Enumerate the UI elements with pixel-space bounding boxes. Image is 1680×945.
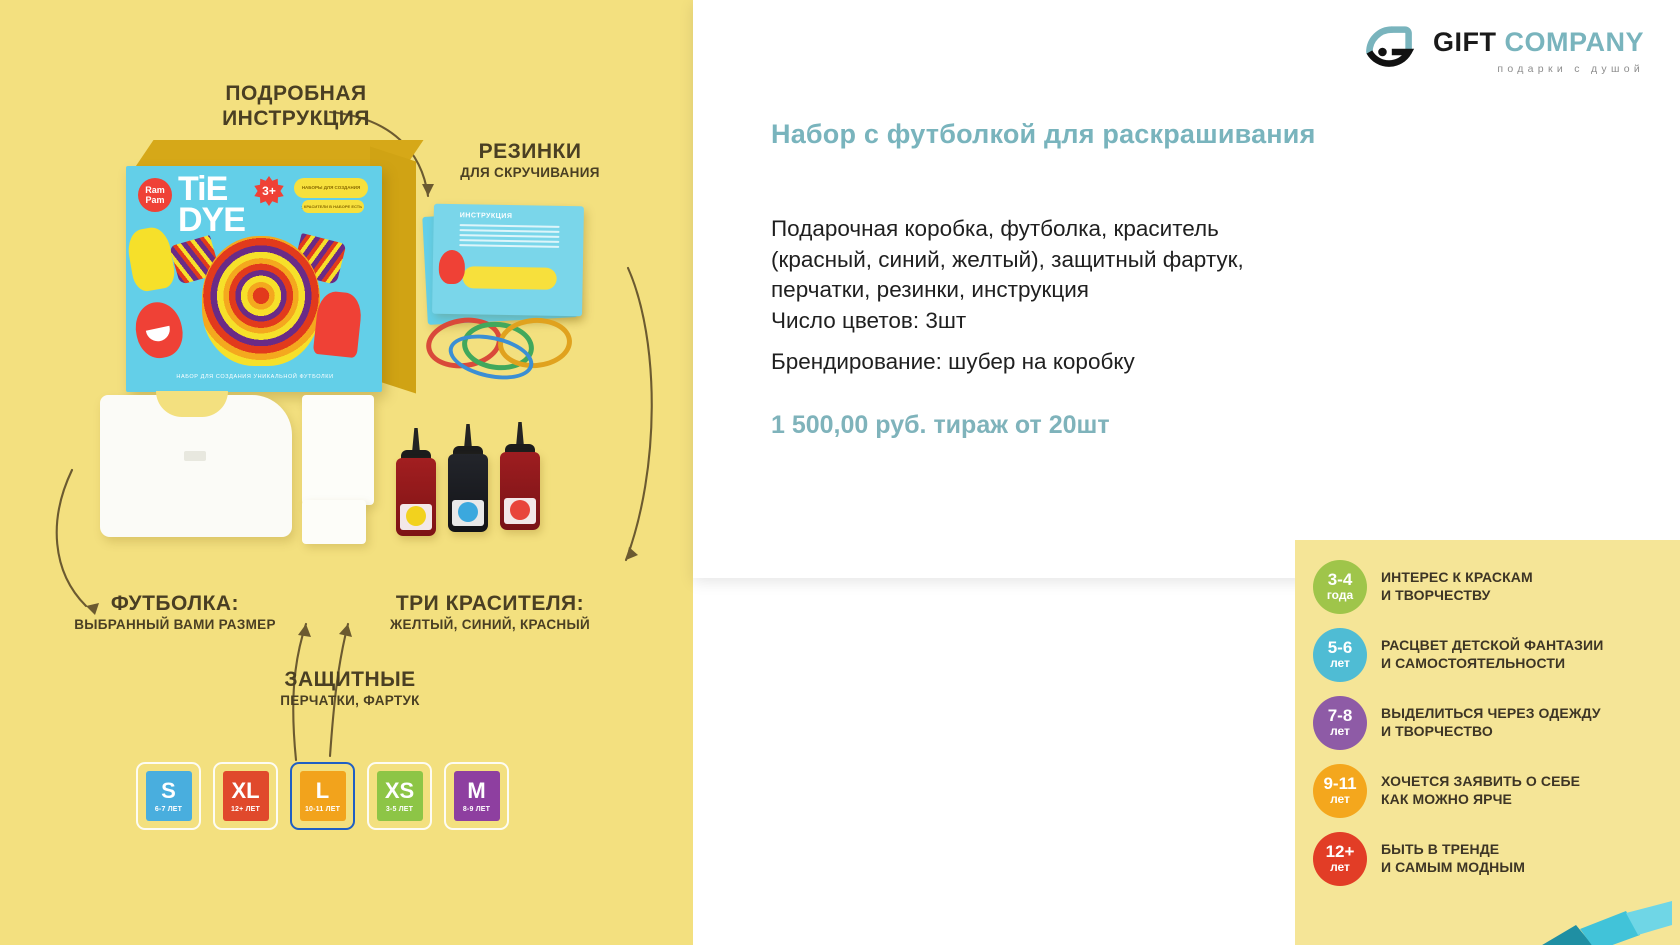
tie-dye-spiral bbox=[202, 236, 320, 366]
dye-bottle-yellow bbox=[500, 418, 540, 530]
protective-gloves bbox=[302, 500, 366, 544]
description-line-3: перчатки, резинки, инструкция bbox=[771, 275, 1471, 306]
logo-tagline: подарки с душой bbox=[1433, 63, 1644, 75]
age-row: 3-4годаИНТЕРЕС К КРАСКАМИ ТВОРЧЕСТВУ bbox=[1313, 560, 1533, 614]
age-badge-number: 9-11 bbox=[1323, 775, 1356, 792]
label-text-line2: ЖЕЛТЫЙ, СИНИЙ, КРАСНЫЙ bbox=[370, 617, 610, 633]
bottle-cap bbox=[409, 428, 423, 452]
age-row: 5-6летРАСЦВЕТ ДЕТСКОЙ ФАНТАЗИИИ САМОСТОЯ… bbox=[1313, 628, 1603, 682]
label-text-line2: ИНСТРУКЦИЯ bbox=[196, 107, 396, 132]
size-chip-label: S bbox=[161, 780, 176, 802]
age-description: ИНТЕРЕС К КРАСКАМИ ТВОРЧЕСТВУ bbox=[1381, 569, 1533, 605]
age-description: ВЫДЕЛИТЬСЯ ЧЕРЕЗ ОДЕЖДУИ ТВОРЧЕСТВО bbox=[1381, 705, 1601, 741]
label-text-line1: ФУТБОЛКА: bbox=[60, 592, 290, 617]
bottle-color-dot bbox=[406, 506, 426, 526]
age-row: 9-11летХОЧЕТСЯ ЗАЯВИТЬ О СЕБЕКАК МОЖНО Я… bbox=[1313, 764, 1580, 818]
size-chip-badge: XS3-5 ЛЕТ bbox=[377, 771, 423, 821]
package-promo-badge-2: КРАСИТЕЛИ В НАБОРЕ ЕСТЬ bbox=[302, 200, 364, 213]
age-row: 12+летБЫТЬ В ТРЕНДЕИ САМЫМ МОДНЫМ bbox=[1313, 832, 1525, 886]
price-label: 1 500,00 руб. тираж от 20шт bbox=[771, 411, 1110, 440]
age-description-line1: ХОЧЕТСЯ ЗАЯВИТЬ О СЕБЕ bbox=[1381, 773, 1580, 791]
size-chip-label: XL bbox=[231, 780, 259, 802]
branding-info: Брендирование: шубер на коробку bbox=[771, 349, 1135, 375]
size-chip-label: L bbox=[316, 780, 329, 802]
age-description-line1: ВЫДЕЛИТЬСЯ ЧЕРЕЗ ОДЕЖДУ bbox=[1381, 705, 1601, 723]
age-description-line2: КАК МОЖНО ЯРЧЕ bbox=[1381, 791, 1580, 809]
age-badge: 12+лет bbox=[1313, 832, 1367, 886]
slide-root: Ram Pam TiE DYE 3+ НАБОРЫ ДЛЯ СОЗДАНИЯ У… bbox=[0, 0, 1680, 945]
age-description-line2: И ТВОРЧЕСТВО bbox=[1381, 723, 1601, 741]
label-rubber-bands: РЕЗИНКИ ДЛЯ СКРУЧИВАНИЯ bbox=[440, 140, 620, 181]
product-infographic: Ram Pam TiE DYE 3+ НАБОРЫ ДЛЯ СОЗДАНИЯ У… bbox=[0, 0, 693, 945]
instruction-text-lines bbox=[459, 224, 559, 251]
label-text-line2: ПЕРЧАТКИ, ФАРТУК bbox=[255, 693, 445, 709]
product-package-box: Ram Pam TiE DYE 3+ НАБОРЫ ДЛЯ СОЗДАНИЯ У… bbox=[118, 140, 418, 395]
instruction-leaflet-title: ИНСТРУКЦИЯ bbox=[460, 212, 513, 220]
age-badge-number: 3-4 bbox=[1328, 571, 1353, 588]
label-text-line2: ВЫБРАННЫЙ ВАМИ РАЗМЕР bbox=[60, 617, 290, 633]
size-chip-badge: M8-9 ЛЕТ bbox=[454, 771, 500, 821]
age-badge: 5-6лет bbox=[1313, 628, 1367, 682]
age-badge-unit: лет bbox=[1330, 657, 1350, 670]
page-title: Набор с футболкой для раскрашивания bbox=[771, 119, 1316, 150]
age-badge-number: 7-8 bbox=[1328, 707, 1353, 724]
label-tshirt: ФУТБОЛКА: ВЫБРАННЫЙ ВАМИ РАЗМЕР bbox=[60, 592, 290, 633]
bottle-cap bbox=[461, 424, 475, 448]
age-badge-3plus: 3+ bbox=[254, 176, 284, 206]
description-line-1: Подарочная коробка, футболка, краситель bbox=[771, 214, 1471, 245]
yellow-paint-blob bbox=[126, 225, 177, 293]
size-chip-xl[interactable]: XL12+ ЛЕТ bbox=[213, 762, 278, 830]
instruction-leaflet-front: ИНСТРУКЦИЯ bbox=[432, 204, 584, 317]
logo-title: GIFT COMPANY bbox=[1433, 29, 1644, 56]
age-badge: 9-11лет bbox=[1313, 764, 1367, 818]
size-chip-m[interactable]: M8-9 ЛЕТ bbox=[444, 762, 509, 830]
age-description-line1: БЫТЬ В ТРЕНДЕ bbox=[1381, 841, 1525, 859]
size-chip-age: 3-5 ЛЕТ bbox=[386, 806, 413, 813]
age-recommendation-panel: 3-4годаИНТЕРЕС К КРАСКАМИ ТВОРЧЕСТВУ5-6л… bbox=[1295, 540, 1680, 945]
white-tshirt-item bbox=[100, 395, 292, 537]
age-description: БЫТЬ В ТРЕНДЕИ САМЫМ МОДНЫМ bbox=[1381, 841, 1525, 877]
company-logo[interactable]: GIFT COMPANY подарки с душой bbox=[1361, 24, 1644, 80]
size-chip-age: 6-7 ЛЕТ bbox=[155, 806, 182, 813]
label-text-line1: ТРИ КРАСИТЕЛЯ: bbox=[370, 592, 610, 617]
product-info-card: GIFT COMPANY подарки с душой Набор с фут… bbox=[693, 0, 1680, 578]
dye-bottle-blue bbox=[448, 420, 488, 532]
size-chip-badge: L10-11 ЛЕТ bbox=[300, 771, 346, 821]
age-row: 7-8летВЫДЕЛИТЬСЯ ЧЕРЕЗ ОДЕЖДУИ ТВОРЧЕСТВ… bbox=[1313, 696, 1601, 750]
age-description: ХОЧЕТСЯ ЗАЯВИТЬ О СЕБЕКАК МОЖНО ЯРЧЕ bbox=[1381, 773, 1580, 809]
label-text-line1: ПОДРОБНАЯ bbox=[196, 82, 396, 107]
age-badge-unit: лет bbox=[1330, 793, 1350, 806]
size-chip-age: 8-9 ЛЕТ bbox=[463, 806, 490, 813]
age-description-line2: И ТВОРЧЕСТВУ bbox=[1381, 587, 1533, 605]
rampam-brand-logo: Ram Pam bbox=[138, 178, 172, 212]
age-badge-unit: лет bbox=[1330, 725, 1350, 738]
instruction-mascot-icon bbox=[439, 250, 466, 284]
description-line-2: (красный, синий, желтый), защитный фарту… bbox=[771, 245, 1471, 276]
label-protective-gear: ЗАЩИТНЫЕ ПЕРЧАТКИ, ФАРТУК bbox=[255, 668, 445, 709]
size-chip-label: XS bbox=[385, 780, 414, 802]
age-description: РАСЦВЕТ ДЕТСКОЙ ФАНТАЗИИИ САМОСТОЯТЕЛЬНО… bbox=[1381, 637, 1603, 673]
age-description-line1: ИНТЕРЕС К КРАСКАМ bbox=[1381, 569, 1533, 587]
package-promo-badge: НАБОРЫ ДЛЯ СОЗДАНИЯ УНИКАЛЬНЫХ ФУТБОЛОК bbox=[294, 178, 368, 198]
size-chip-badge: XL12+ ЛЕТ bbox=[223, 771, 269, 821]
age-description-line2: И САМОСТОЯТЕЛЬНОСТИ bbox=[1381, 655, 1603, 673]
age-badge-unit: года bbox=[1327, 589, 1353, 602]
age-badge-unit: лет bbox=[1330, 861, 1350, 874]
label-detailed-instruction: ПОДРОБНАЯ ИНСТРУКЦИЯ bbox=[196, 82, 396, 132]
package-footer-text: НАБОР ДЛЯ СОЗДАНИЯ УНИКАЛЬНОЙ ФУТБОЛКИ bbox=[160, 374, 350, 384]
age-badge: 7-8лет bbox=[1313, 696, 1367, 750]
size-chip-l[interactable]: L10-11 ЛЕТ bbox=[290, 762, 355, 830]
size-selector[interactable]: S6-7 ЛЕТXL12+ ЛЕТL10-11 ЛЕТXS3-5 ЛЕТM8-9… bbox=[136, 762, 509, 830]
size-chip-s[interactable]: S6-7 ЛЕТ bbox=[136, 762, 201, 830]
age-badge-number: 12+ bbox=[1326, 843, 1355, 860]
tshirt-label-tag bbox=[184, 451, 206, 461]
size-chip-label: M bbox=[467, 780, 485, 802]
box-front-face: Ram Pam TiE DYE 3+ НАБОРЫ ДЛЯ СОЗДАНИЯ У… bbox=[126, 166, 382, 392]
age-description-line2: И САМЫМ МОДНЫМ bbox=[1381, 859, 1525, 877]
description-color-count: Число цветов: 3шт bbox=[771, 306, 1471, 337]
bottle-body bbox=[500, 452, 540, 530]
age-badge-number: 5-6 bbox=[1328, 639, 1353, 656]
label-text-line1: ЗАЩИТНЫЕ bbox=[255, 668, 445, 693]
instruction-highlight-pill bbox=[463, 266, 557, 290]
age-badge: 3-4года bbox=[1313, 560, 1367, 614]
product-description: Подарочная коробка, футболка, краситель … bbox=[771, 214, 1471, 336]
bottle-body bbox=[448, 454, 488, 532]
bottle-color-dot bbox=[458, 502, 478, 522]
size-chip-age: 10-11 ЛЕТ bbox=[305, 806, 340, 813]
logo-word-gift: GIFT bbox=[1433, 27, 1497, 57]
protective-apron bbox=[302, 395, 374, 505]
label-text-line1: РЕЗИНКИ bbox=[440, 140, 620, 165]
label-text-line2: ДЛЯ СКРУЧИВАНИЯ bbox=[440, 165, 620, 181]
logo-word-company: COMPANY bbox=[1504, 27, 1644, 57]
tshirt-collar bbox=[156, 391, 228, 417]
age-description-line1: РАСЦВЕТ ДЕТСКОЙ ФАНТАЗИИ bbox=[1381, 637, 1603, 655]
bottle-cap bbox=[513, 422, 527, 446]
logo-wordmark: GIFT COMPANY подарки с душой bbox=[1433, 29, 1644, 75]
instruction-leaflet: ИНСТРУКЦИЯ bbox=[425, 205, 585, 325]
bottle-body bbox=[396, 458, 436, 536]
size-chip-xs[interactable]: XS3-5 ЛЕТ bbox=[367, 762, 432, 830]
decorative-ribbon bbox=[1522, 895, 1672, 945]
gift-company-g-icon bbox=[1361, 24, 1417, 80]
dye-bottle-red bbox=[396, 424, 436, 536]
size-chip-age: 12+ ЛЕТ bbox=[231, 806, 260, 813]
bottle-color-dot bbox=[510, 500, 530, 520]
label-three-dyes: ТРИ КРАСИТЕЛЯ: ЖЕЛТЫЙ, СИНИЙ, КРАСНЫЙ bbox=[370, 592, 610, 633]
size-chip-badge: S6-7 ЛЕТ bbox=[146, 771, 192, 821]
